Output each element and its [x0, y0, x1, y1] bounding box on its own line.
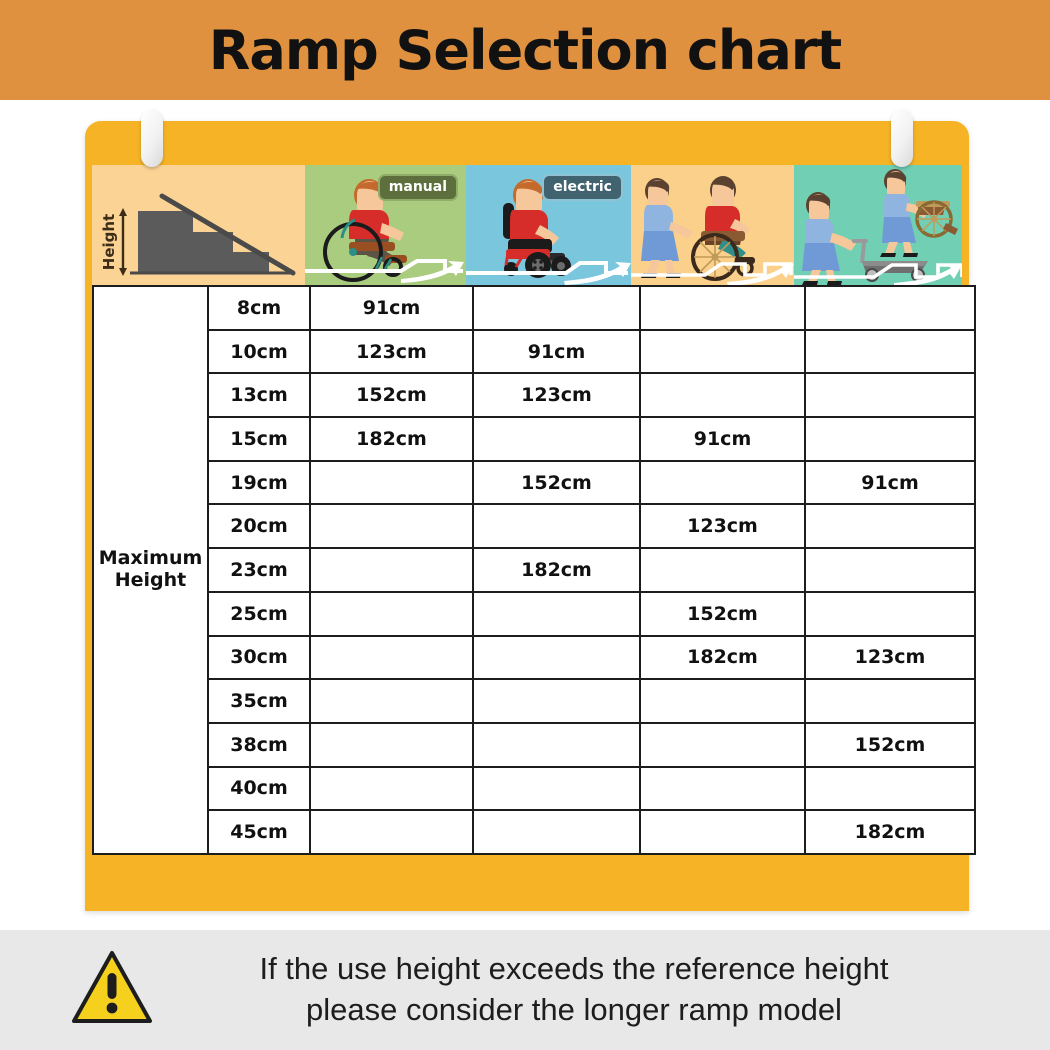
cell-attendant: 123cm [640, 504, 805, 548]
cell-cart: 152cm [805, 723, 975, 767]
chart-board: Height manual [85, 121, 969, 911]
cell-manual [310, 592, 473, 636]
cell-attendant [640, 461, 805, 505]
height-cell: 38cm [208, 723, 310, 767]
cell-attendant: 91cm [640, 417, 805, 461]
table-row: 10cm 123cm 91cm [93, 330, 975, 374]
cell-attendant [640, 373, 805, 417]
manual-badge: manual [378, 174, 458, 201]
table-row: 30cm 182cm 123cm [93, 636, 975, 680]
header-cell-attendant-wheelchair [631, 165, 794, 285]
cell-manual [310, 636, 473, 680]
cell-manual: 152cm [310, 373, 473, 417]
cell-cart: 123cm [805, 636, 975, 680]
cell-electric [473, 417, 640, 461]
table-row: 20cm 123cm [93, 504, 975, 548]
page-title: Ramp Selection chart [209, 19, 841, 82]
footer-text: If the use height exceeds the reference … [178, 949, 1050, 1031]
cell-cart [805, 767, 975, 811]
cart-wheelchair-icon [794, 165, 962, 285]
cell-electric [473, 286, 640, 330]
height-cell: 8cm [208, 286, 310, 330]
table-row: 38cm 152cm [93, 723, 975, 767]
cell-attendant [640, 810, 805, 854]
cell-attendant [640, 286, 805, 330]
height-cell: 15cm [208, 417, 310, 461]
ramp-selection-table: Maximum Height 8cm 91cm 10cm 123cm 91cm [92, 285, 976, 855]
height-cell: 40cm [208, 767, 310, 811]
cell-manual: 123cm [310, 330, 473, 374]
table-row: 40cm [93, 767, 975, 811]
pin-left-icon [141, 109, 163, 167]
max-height-label-line2: Height [115, 569, 187, 591]
cell-attendant [640, 767, 805, 811]
cell-attendant: 152cm [640, 592, 805, 636]
cell-cart [805, 417, 975, 461]
table-row: 25cm 152cm [93, 592, 975, 636]
pin-right-icon [891, 109, 913, 167]
cell-attendant [640, 330, 805, 374]
table-row: 35cm [93, 679, 975, 723]
height-cell: 30cm [208, 636, 310, 680]
header-illustration-strip: Height manual [92, 165, 962, 285]
cell-electric: 182cm [473, 548, 640, 592]
cell-electric [473, 592, 640, 636]
max-height-label-line1: Maximum [99, 547, 203, 569]
chart-board-area: Height manual [0, 100, 1050, 915]
table-row: 23cm 182cm [93, 548, 975, 592]
footer-line-2: please consider the longer ramp model [178, 990, 970, 1031]
cell-manual [310, 548, 473, 592]
table-row: 15cm 182cm 91cm [93, 417, 975, 461]
height-cell: 35cm [208, 679, 310, 723]
footer-line-1: If the use height exceeds the reference … [178, 949, 970, 990]
attendant-wheelchair-icon [631, 165, 794, 285]
cell-manual [310, 461, 473, 505]
height-cell: 20cm [208, 504, 310, 548]
height-cell: 45cm [208, 810, 310, 854]
cell-electric: 123cm [473, 373, 640, 417]
height-cell: 10cm [208, 330, 310, 374]
cell-attendant [640, 548, 805, 592]
cell-manual: 91cm [310, 286, 473, 330]
cell-electric: 152cm [473, 461, 640, 505]
header-cell-cart-wheelchair [794, 165, 962, 285]
title-bar: Ramp Selection chart [0, 0, 1050, 100]
cell-cart [805, 592, 975, 636]
cell-electric [473, 636, 640, 680]
cell-cart [805, 504, 975, 548]
header-cell-electric-wheelchair: electric [466, 165, 631, 285]
ramp-selection-table-wrapper: Maximum Height 8cm 91cm 10cm 123cm 91cm [92, 285, 962, 855]
table-row: 13cm 152cm 123cm [93, 373, 975, 417]
cell-manual: 182cm [310, 417, 473, 461]
cell-cart [805, 330, 975, 374]
warning-triangle-icon [70, 949, 154, 1032]
cell-attendant [640, 723, 805, 767]
cell-attendant: 182cm [640, 636, 805, 680]
electric-badge: electric [542, 174, 623, 201]
height-diagram-icon: Height [92, 165, 305, 285]
header-cell-height-diagram: Height [92, 165, 305, 285]
cell-electric [473, 679, 640, 723]
table-row: 19cm 152cm 91cm [93, 461, 975, 505]
footer-note: If the use height exceeds the reference … [0, 930, 1050, 1050]
cell-cart [805, 286, 975, 330]
table-row: Maximum Height 8cm 91cm [93, 286, 975, 330]
height-axis-label: Height [100, 214, 118, 270]
cell-cart: 182cm [805, 810, 975, 854]
cell-cart: 91cm [805, 461, 975, 505]
cell-electric [473, 810, 640, 854]
cell-manual [310, 810, 473, 854]
height-cell: 13cm [208, 373, 310, 417]
cell-electric: 91cm [473, 330, 640, 374]
header-cell-manual-wheelchair: manual [305, 165, 466, 285]
cell-electric [473, 723, 640, 767]
cell-electric [473, 767, 640, 811]
height-cell: 23cm [208, 548, 310, 592]
cell-cart [805, 548, 975, 592]
height-cell: 25cm [208, 592, 310, 636]
cell-manual [310, 767, 473, 811]
cell-cart [805, 679, 975, 723]
height-cell: 19cm [208, 461, 310, 505]
table-row: 45cm 182cm [93, 810, 975, 854]
max-height-label: Maximum Height [93, 286, 208, 854]
cell-manual [310, 679, 473, 723]
cell-manual [310, 723, 473, 767]
cell-manual [310, 504, 473, 548]
cell-cart [805, 373, 975, 417]
cell-electric [473, 504, 640, 548]
cell-attendant [640, 679, 805, 723]
